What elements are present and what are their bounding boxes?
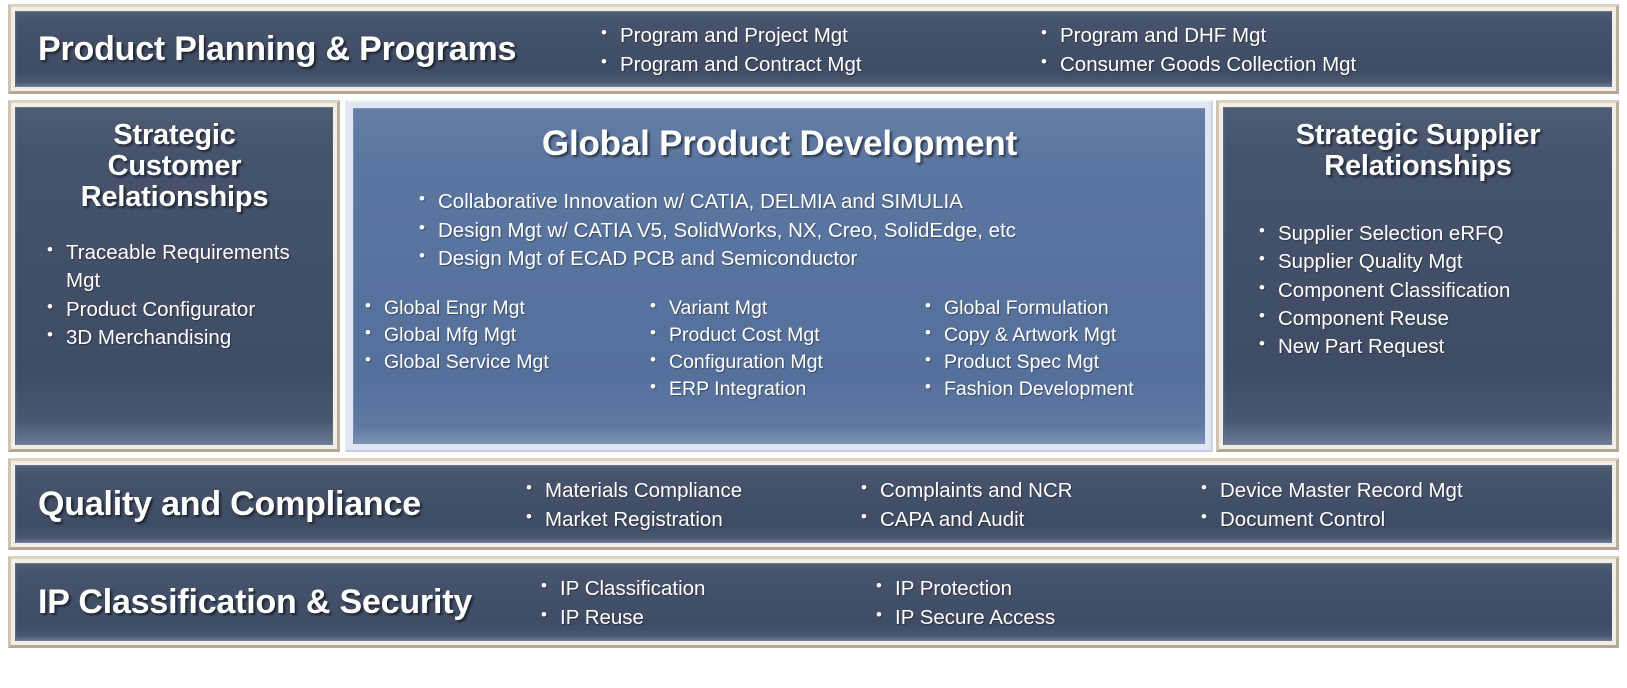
list-item: Global Service Mgt <box>362 349 647 376</box>
ip-list-b: IP Protection IP Secure Access <box>873 575 1612 632</box>
customer-list: Traceable Requirements Mgt Product Confi… <box>26 239 323 352</box>
panel-strategic-supplier-relationships[interactable]: Strategic Supplier Relationships Supplie… <box>1216 100 1619 452</box>
list-item: Materials Compliance <box>523 477 858 505</box>
list-item: Product Cost Mgt <box>647 322 922 349</box>
gpd-list-3: Global Formulation Copy & Artwork Mgt Pr… <box>922 295 1205 403</box>
planning-column-b: Program and DHF Mgt Consumer Goods Colle… <box>1038 20 1612 79</box>
list-item: Device Master Record Mgt <box>1198 477 1612 505</box>
quality-column-a: Materials Compliance Market Registration <box>523 475 858 534</box>
list-item: Product Spec Mgt <box>922 349 1205 376</box>
panel-body: IP Classification & Security IP Classifi… <box>15 563 1612 641</box>
list-item: Fashion Development <box>922 376 1205 403</box>
ip-list-a: IP Classification IP Reuse <box>538 575 873 632</box>
gpd-list-2: Variant Mgt Product Cost Mgt Configurati… <box>647 295 922 403</box>
gpd-column-1: Global Engr Mgt Global Mfg Mgt Global Se… <box>354 295 647 403</box>
supplier-list: Supplier Selection eRFQ Supplier Quality… <box>1234 220 1602 361</box>
panel-product-planning-and-programs[interactable]: Product Planning & Programs Program and … <box>8 4 1619 94</box>
list-item: ERP Integration <box>647 376 922 403</box>
list-item: Collaborative Innovation w/ CATIA, DELMI… <box>416 188 1205 216</box>
capability-map-diagram: Product Planning & Programs Program and … <box>0 0 1627 688</box>
panel-title-ip-classification-and-security: IP Classification & Security <box>38 584 538 620</box>
panel-title-strategic-customer-relationships: Strategic Customer Relationships <box>26 120 323 213</box>
panel-quality-and-compliance[interactable]: Quality and Compliance Materials Complia… <box>8 458 1619 550</box>
heading-slot: IP Classification & Security <box>16 584 538 620</box>
list-item: Component Reuse <box>1256 305 1602 333</box>
panel-strategic-customer-relationships[interactable]: Strategic Customer Relationships Traceab… <box>8 100 340 452</box>
list-item: Document Control <box>1198 506 1612 534</box>
list-item: Variant Mgt <box>647 295 922 322</box>
gpd-column-3: Global Formulation Copy & Artwork Mgt Pr… <box>922 295 1205 403</box>
panel-body: Strategic Customer Relationships Traceab… <box>15 107 333 445</box>
ip-column-a: IP Classification IP Reuse <box>538 573 873 632</box>
quality-list-b: Complaints and NCR CAPA and Audit <box>858 477 1198 534</box>
list-item: New Part Request <box>1256 333 1602 361</box>
gpd-top-list: Collaborative Innovation w/ CATIA, DELMI… <box>354 188 1205 273</box>
quality-column-c: Device Master Record Mgt Document Contro… <box>1198 475 1612 534</box>
list-item: Program and DHF Mgt <box>1038 22 1612 50</box>
ip-column-b: IP Protection IP Secure Access <box>873 573 1612 632</box>
list-item: 3D Merchandising <box>44 324 323 352</box>
panel-body: Global Product Development Collaborative… <box>353 108 1205 444</box>
gpd-list-1: Global Engr Mgt Global Mfg Mgt Global Se… <box>362 295 647 376</box>
list-item: Consumer Goods Collection Mgt <box>1038 51 1612 79</box>
list-item: Configuration Mgt <box>647 349 922 376</box>
panel-global-product-development[interactable]: Global Product Development Collaborative… <box>345 100 1213 452</box>
panel-title-strategic-supplier-relationships: Strategic Supplier Relationships <box>1234 120 1602 182</box>
planning-list-a: Program and Project Mgt Program and Cont… <box>598 22 1038 79</box>
planning-list-b: Program and DHF Mgt Consumer Goods Colle… <box>1038 22 1612 79</box>
list-item: Global Formulation <box>922 295 1205 322</box>
list-item: Copy & Artwork Mgt <box>922 322 1205 349</box>
list-item: Complaints and NCR <box>858 477 1198 505</box>
panel-body: Product Planning & Programs Program and … <box>15 11 1612 87</box>
panel-body: Strategic Supplier Relationships Supplie… <box>1223 107 1612 445</box>
heading-slot: Product Planning & Programs <box>16 31 598 67</box>
list-item: Market Registration <box>523 506 858 534</box>
list-item: CAPA and Audit <box>858 506 1198 534</box>
quality-list-c: Device Master Record Mgt Document Contro… <box>1198 477 1612 534</box>
quality-list-a: Materials Compliance Market Registration <box>523 477 858 534</box>
list-item: Design Mgt w/ CATIA V5, SolidWorks, NX, … <box>416 217 1205 245</box>
list-item: Global Mfg Mgt <box>362 322 647 349</box>
list-item: Supplier Selection eRFQ <box>1256 220 1602 248</box>
gpd-column-group: Global Engr Mgt Global Mfg Mgt Global Se… <box>354 295 1205 403</box>
list-item: Global Engr Mgt <box>362 295 647 322</box>
list-item: IP Secure Access <box>873 604 1612 632</box>
list-item: IP Protection <box>873 575 1612 603</box>
list-item: IP Reuse <box>538 604 873 632</box>
list-item: Design Mgt of ECAD PCB and Semiconductor <box>416 245 1205 273</box>
panel-body: Quality and Compliance Materials Complia… <box>15 465 1612 543</box>
list-item: Component Classification <box>1256 277 1602 305</box>
planning-column-a: Program and Project Mgt Program and Cont… <box>598 20 1038 79</box>
quality-column-b: Complaints and NCR CAPA and Audit <box>858 475 1198 534</box>
gpd-column-2: Variant Mgt Product Cost Mgt Configurati… <box>647 295 922 403</box>
list-item: Supplier Quality Mgt <box>1256 248 1602 276</box>
list-item: Program and Project Mgt <box>598 22 1038 50</box>
list-item: Product Configurator <box>44 296 323 324</box>
panel-ip-classification-and-security[interactable]: IP Classification & Security IP Classifi… <box>8 556 1619 648</box>
panel-title-quality-and-compliance: Quality and Compliance <box>38 486 523 522</box>
list-item: Traceable Requirements Mgt <box>44 239 323 296</box>
panel-title-product-planning: Product Planning & Programs <box>38 31 598 67</box>
list-item: Program and Contract Mgt <box>598 51 1038 79</box>
panel-title-global-product-development: Global Product Development <box>354 125 1205 162</box>
list-item: IP Classification <box>538 575 873 603</box>
heading-slot: Quality and Compliance <box>16 486 523 522</box>
